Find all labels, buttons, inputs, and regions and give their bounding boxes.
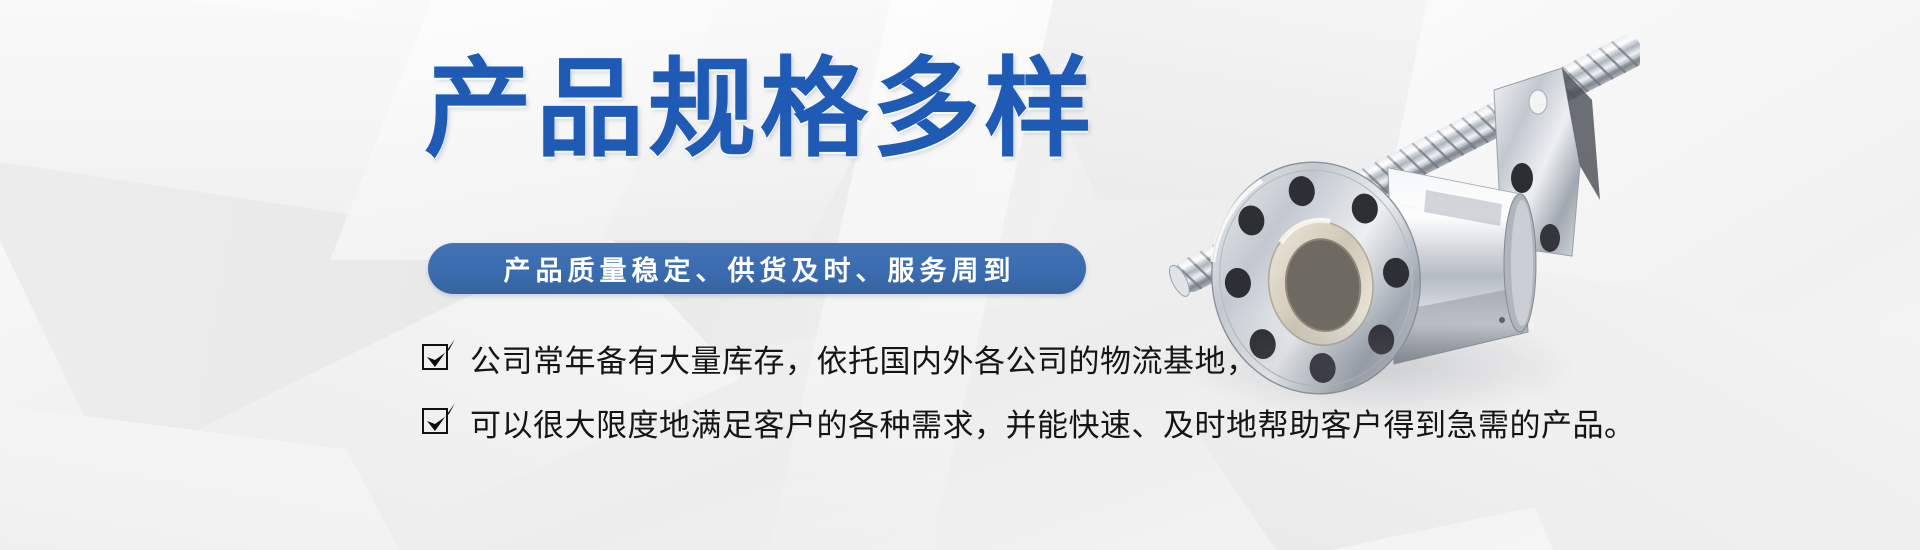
- tagline-text: 产品质量稳定、供货及时、服务周到: [499, 249, 1016, 288]
- feature-list: 公司常年备有大量库存，依托国内外各公司的物流基地， 可以很大限度地满足客户的各种…: [422, 326, 1636, 454]
- checkbox-check-icon: [422, 406, 454, 438]
- list-item-label: 公司常年备有大量库存，依托国内外各公司的物流基地，: [470, 336, 1258, 381]
- list-item-label: 可以很大限度地满足客户的各种需求，并能快速、及时地帮助客户得到急需的产品。: [470, 400, 1636, 445]
- list-item: 公司常年备有大量库存，依托国内外各公司的物流基地，: [422, 326, 1636, 390]
- tagline-pill: 产品质量稳定、供货及时、服务周到: [428, 243, 1086, 294]
- checkbox-check-icon: [422, 342, 454, 374]
- list-item: 可以很大限度地满足客户的各种需求，并能快速、及时地帮助客户得到急需的产品。: [422, 390, 1636, 454]
- promo-banner: 产品规格多样 产品质量稳定、供货及时、服务周到 公司常年备有大量库存，依托国内外…: [0, 0, 1920, 550]
- page-title: 产品规格多样: [424, 52, 1096, 169]
